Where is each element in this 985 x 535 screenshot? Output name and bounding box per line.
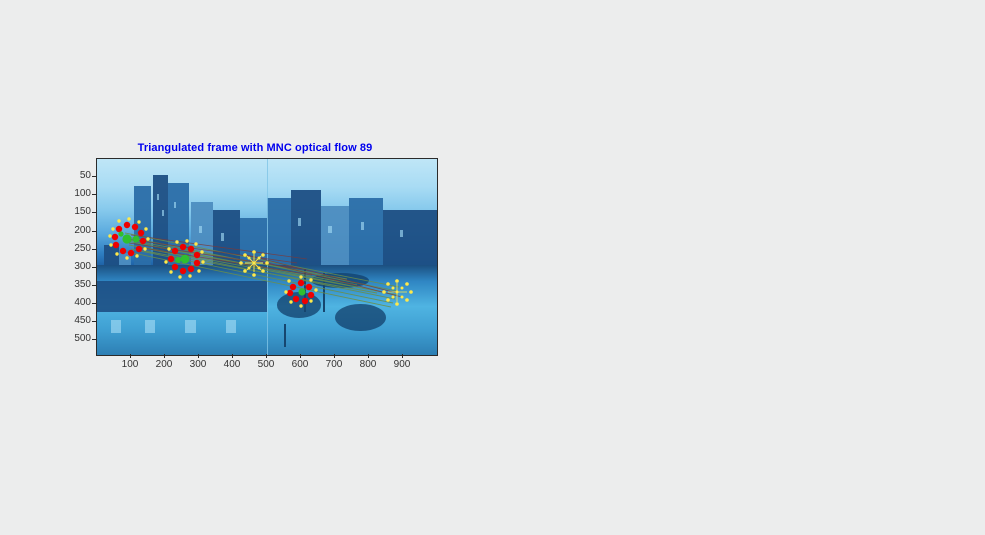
x-tickmark — [334, 354, 335, 358]
y-tickmark — [92, 194, 96, 195]
x-tick-label: 700 — [323, 359, 345, 370]
y-tickmark — [92, 231, 96, 232]
x-tick-label: 400 — [221, 359, 243, 370]
y-tickmark — [92, 339, 96, 340]
x-tickmark — [130, 354, 131, 358]
y-tickmark — [92, 285, 96, 286]
y-tickmark — [92, 176, 96, 177]
x-tickmark — [266, 354, 267, 358]
left-figure-panel: Triangulated frame with MNC optical flow… — [0, 0, 490, 535]
optical-flow-overlay — [97, 159, 437, 355]
y-tickmark — [92, 249, 96, 250]
x-tickmark — [164, 354, 165, 358]
y-tickmark — [92, 212, 96, 213]
x-tickmark — [402, 354, 403, 358]
x-tick-label: 500 — [255, 359, 277, 370]
x-tick-label: 100 — [119, 359, 141, 370]
right-figure-panel: Optical flow of MNC 89 -0.0570160.019414… — [497, 0, 985, 535]
y-tickmark — [92, 321, 96, 322]
y-tick-label: 50 — [63, 170, 91, 181]
x-tick-label: 300 — [187, 359, 209, 370]
x-tickmark — [300, 354, 301, 358]
y-tick-label: 250 — [63, 243, 91, 254]
y-tickmark — [92, 303, 96, 304]
y-tick-label: 150 — [63, 206, 91, 217]
y-tick-label: 400 — [63, 297, 91, 308]
feature-cluster-4 — [284, 275, 317, 307]
x-tick-label: 900 — [391, 359, 413, 370]
x-tick-label: 600 — [289, 359, 311, 370]
x-tick-label: 800 — [357, 359, 379, 370]
y-tick-label: 450 — [63, 315, 91, 326]
y-tick-label: 300 — [63, 261, 91, 272]
feature-cluster-1 — [108, 217, 149, 259]
x-tickmark — [368, 354, 369, 358]
y-tick-label: 200 — [63, 225, 91, 236]
x-tick-label: 200 — [153, 359, 175, 370]
y-tick-label: 100 — [63, 188, 91, 199]
left-figure-title: Triangulated frame with MNC optical flow… — [95, 142, 415, 154]
y-tickmark — [92, 267, 96, 268]
y-tick-label: 500 — [63, 333, 91, 344]
x-tickmark — [198, 354, 199, 358]
x-tickmark — [232, 354, 233, 358]
triangulated-frame-image — [96, 158, 438, 356]
y-tick-label: 350 — [63, 279, 91, 290]
